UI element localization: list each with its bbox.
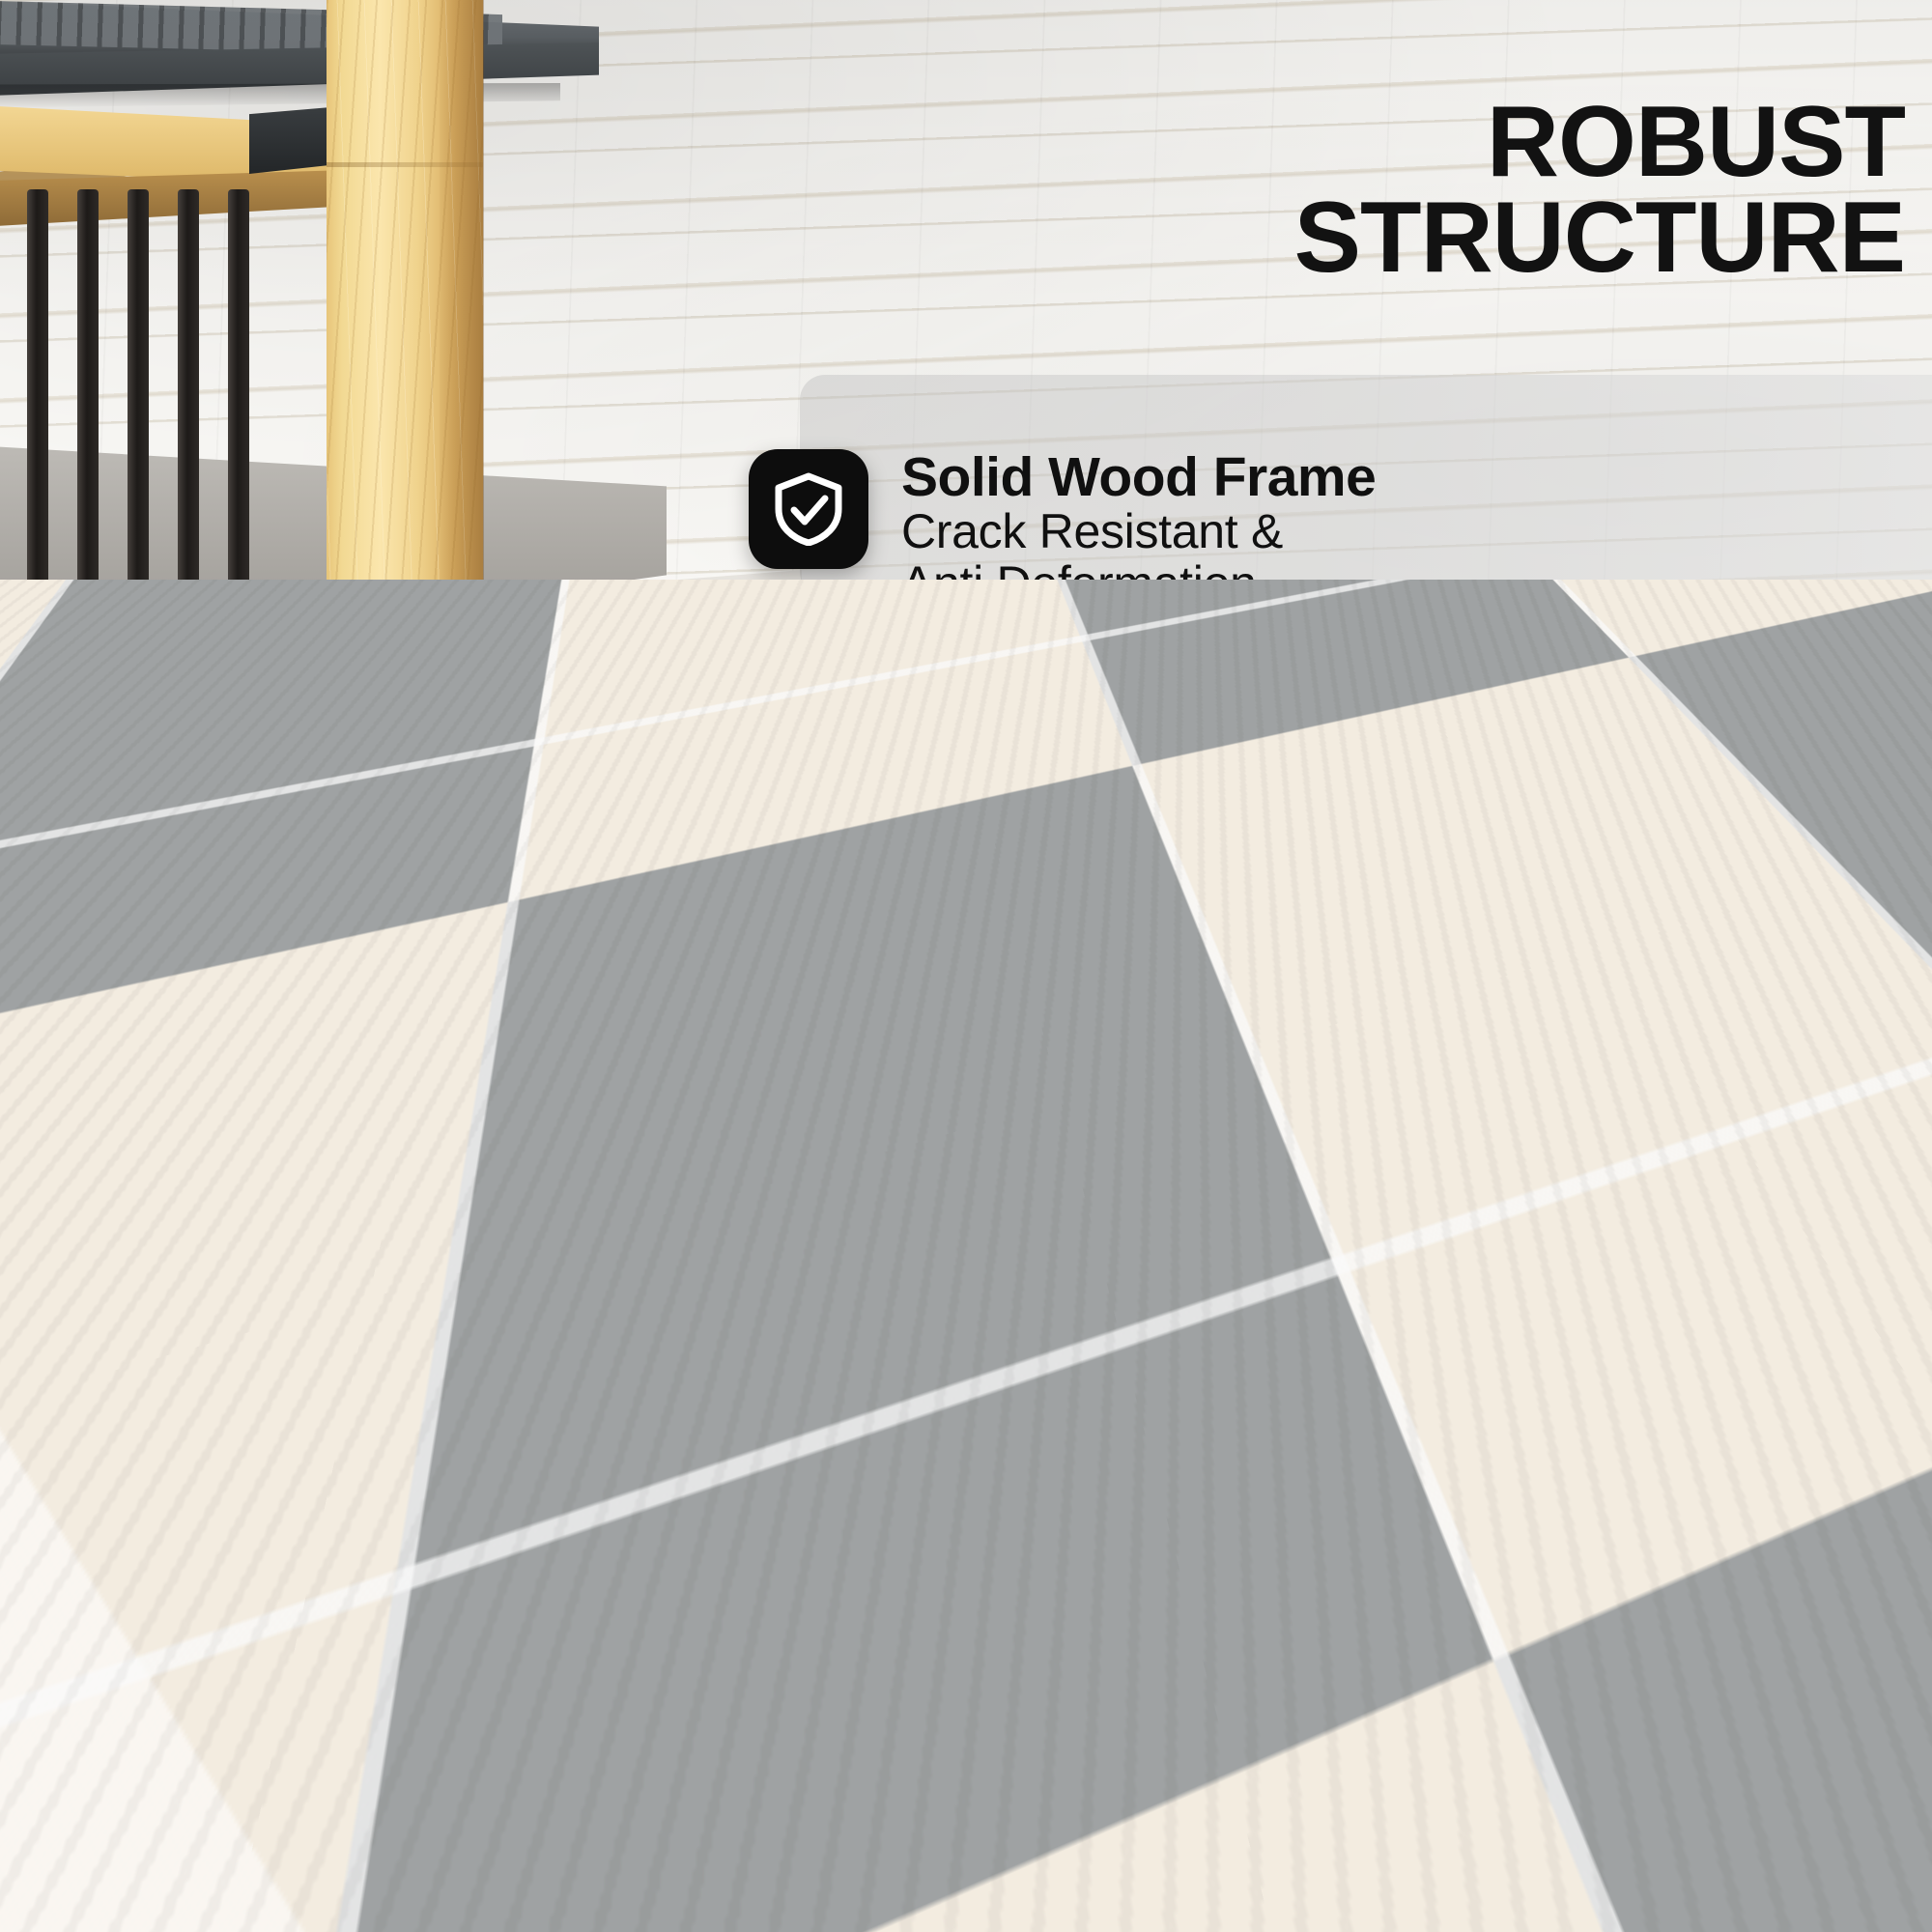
page-title: ROBUST STRUCTURE: [929, 95, 1905, 286]
ground-stake-quantity-label: X16: [1120, 1071, 1201, 1126]
triangle-stability-badge: [749, 1275, 868, 1395]
feature-1-text: Solid Wood Frame Crack Resistant & Anti …: [901, 449, 1906, 610]
base-screw-right: [510, 1164, 527, 1215]
wall-plug-size-label: Φ8-60mm: [1642, 903, 1696, 1029]
wall-plug-wing-left: [1615, 956, 1640, 1012]
base-screw-left: [298, 1167, 315, 1218]
wall-plug-notch-3: [1642, 1124, 1696, 1131]
screw-head-slot: [1660, 711, 1667, 732]
shield-check-icon: [774, 472, 843, 546]
page-title-line-2: STRUCTURE: [929, 190, 1905, 286]
expansion-screw-assembly: Φ8-60mm: [1584, 705, 1748, 1207]
feature-1-title: Solid Wood Frame: [901, 449, 1906, 505]
base-screw-center: [391, 1174, 409, 1225]
install-direction-arrow-icon: [384, 1090, 431, 1169]
feature-solid-wood-frame: Solid Wood Frame Crack Resistant & Anti …: [749, 449, 1932, 610]
product-feature-image: Φ8-60mm ROBUST STRUCTURE Solid Wood Fram…: [0, 0, 1932, 1932]
feature-2-subtitle: Ensures A Stable Standing: [901, 1358, 1906, 1410]
feature-2-title-line-1: Ground Stakes &: [901, 1246, 1906, 1302]
feature-ground-stakes: Ground Stakes & Expansion Screws Ensures…: [749, 1246, 1932, 1410]
expansion-screw-quantity-badge: X16: [1387, 1038, 1476, 1159]
shield-check-badge: [749, 449, 868, 569]
expansion-screw-quantity-label: X16: [1391, 1071, 1472, 1126]
feature-2-text: Ground Stakes & Expansion Screws Ensures…: [901, 1246, 1906, 1410]
feature-2-title-line-2: Expansion Screws: [901, 1302, 1906, 1358]
screw-head: [1627, 705, 1708, 738]
wall-plug-notch-2: [1642, 1074, 1696, 1081]
ground-stake-quantity-badge: X16: [1116, 1038, 1205, 1159]
feature-1-subtitle-line-2: Anti Deformation: [901, 557, 1906, 610]
post-base-plate: [284, 1219, 527, 1258]
post-joint-seam: [327, 162, 483, 167]
triangle-stability-icon: [772, 1297, 845, 1373]
screw-threaded-shank: [1646, 734, 1689, 879]
feature-1-subtitle-line-1: Crack Resistant &: [901, 505, 1906, 557]
